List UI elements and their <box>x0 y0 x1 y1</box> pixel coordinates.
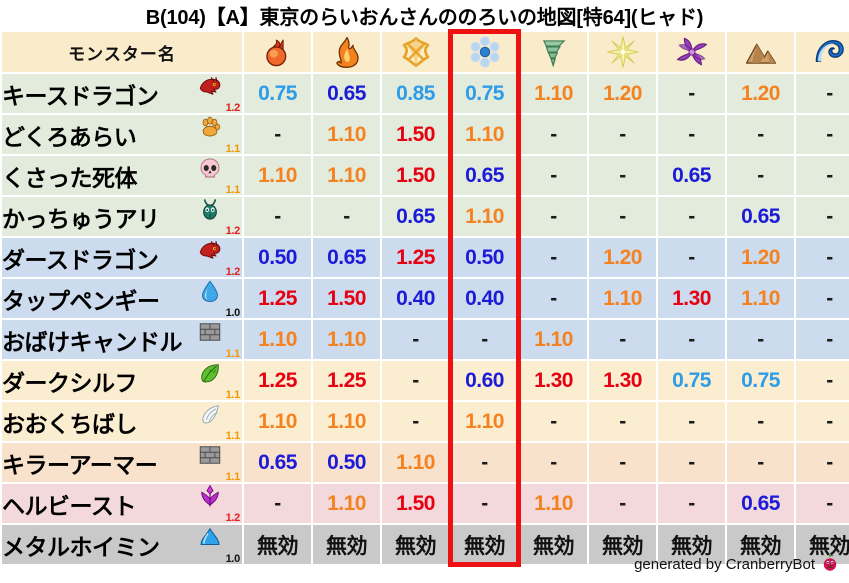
wave-icon <box>796 35 849 69</box>
resistance-cell: 0.65 <box>313 74 380 113</box>
resistance-cell: 1.25 <box>244 361 311 400</box>
darkspiral-icon <box>658 35 725 69</box>
resistance-cell: 1.10 <box>244 402 311 441</box>
monster-name-cell[interactable]: くさった死体1.1 <box>2 156 242 195</box>
monster-name-label: どくろあらい <box>2 118 136 152</box>
table-row: タップペンギー1.01.251.500.400.40-1.101.301.10- <box>2 279 849 318</box>
resistance-cell: 0.40 <box>451 279 518 318</box>
resistance-cell: 0.75 <box>727 361 794 400</box>
trident-icon <box>198 484 222 514</box>
monster-name-cell[interactable]: ダースドラゴン1.2 <box>2 238 242 277</box>
resistance-matrix-wrapper: モンスター名キースドラゴン1.20.750.650.850.751.101.20… <box>0 30 849 566</box>
resistance-cell: - <box>589 197 656 236</box>
resistance-cell: 0.65 <box>727 197 794 236</box>
resistance-cell: - <box>658 238 725 277</box>
monster-name-cell[interactable]: メタルホイミン1.0 <box>2 525 242 564</box>
monster-multiplier: 1.0 <box>226 553 240 565</box>
resistance-cell: - <box>796 74 849 113</box>
monster-name-cell[interactable]: タップペンギー1.0 <box>2 279 242 318</box>
resistance-cell: 0.40 <box>382 279 449 318</box>
resistance-cell: 0.75 <box>658 361 725 400</box>
table-row: どくろあらい1.1-1.101.501.10----- <box>2 115 849 154</box>
dragon-head-icon <box>198 238 222 268</box>
monster-name-cell[interactable]: ヘルビースト1.2 <box>2 484 242 523</box>
monster-badge: 1.2 <box>196 239 240 276</box>
resistance-cell: 1.10 <box>520 74 587 113</box>
resistance-cell: 無効 <box>244 525 311 564</box>
resistance-cell: 無効 <box>313 525 380 564</box>
resistance-cell: 1.50 <box>382 484 449 523</box>
monster-badge: 1.2 <box>196 75 240 112</box>
resistance-cell: 0.65 <box>658 156 725 195</box>
resistance-cell: - <box>727 115 794 154</box>
cranberry-icon <box>821 554 839 575</box>
monster-name-label: ダークシルフ <box>2 364 137 398</box>
resistance-cell: 1.20 <box>727 74 794 113</box>
resistance-cell: 1.20 <box>727 238 794 277</box>
monster-name-label: キラーアーマー <box>2 446 157 480</box>
resistance-cell: - <box>796 238 849 277</box>
header-element-bagi[interactable] <box>520 32 587 72</box>
monster-multiplier: 1.2 <box>226 225 240 237</box>
monster-multiplier: 1.1 <box>226 348 240 360</box>
resistance-cell: 1.10 <box>313 484 380 523</box>
table-row: かっちゅうアリ1.2--0.651.10---0.65- <box>2 197 849 236</box>
resistance-cell: 1.10 <box>244 156 311 195</box>
resistance-cell: 1.30 <box>658 279 725 318</box>
resistance-cell: - <box>658 197 725 236</box>
dragon-head-icon <box>198 74 222 104</box>
wing-icon <box>198 402 222 432</box>
resistance-cell: 1.20 <box>589 74 656 113</box>
resistance-cell: - <box>658 320 725 359</box>
tornado-icon <box>520 35 587 69</box>
resistance-cell: 0.65 <box>727 484 794 523</box>
resistance-cell: - <box>658 74 725 113</box>
monster-name-cell[interactable]: ダークシルフ1.1 <box>2 361 242 400</box>
footer-text: generated by CranberryBot <box>634 556 815 573</box>
resistance-cell: 1.30 <box>589 361 656 400</box>
resistance-cell: 1.10 <box>589 279 656 318</box>
page-title: B(104)【A】東京のらいおんさんののろいの地図[特64](ヒャド) <box>0 0 849 30</box>
resistance-cell: 無効 <box>382 525 449 564</box>
resistance-cell: - <box>451 484 518 523</box>
resistance-cell: - <box>520 238 587 277</box>
resistance-cell: - <box>658 484 725 523</box>
resistance-cell: - <box>796 156 849 195</box>
monster-multiplier: 1.1 <box>226 184 240 196</box>
leaf-icon <box>198 361 222 391</box>
resistance-cell: 0.65 <box>313 238 380 277</box>
resistance-cell: 1.10 <box>520 320 587 359</box>
resistance-cell: - <box>589 156 656 195</box>
waterdrop-icon <box>198 279 222 309</box>
resistance-cell: 1.10 <box>382 443 449 482</box>
resistance-cell: 無効 <box>520 525 587 564</box>
resistance-cell: - <box>796 402 849 441</box>
table-row: くさった死体1.11.101.101.500.65--0.65-- <box>2 156 849 195</box>
monster-badge: 1.1 <box>196 403 240 440</box>
monster-name-label: くさった死体 <box>2 159 137 193</box>
explosion-icon <box>382 35 449 69</box>
monster-badge: 1.0 <box>196 280 240 317</box>
resistance-cell: - <box>520 279 587 318</box>
resistance-cell: 1.25 <box>382 238 449 277</box>
table-row: ヘルビースト1.2-1.101.50-1.10--0.65- <box>2 484 849 523</box>
resistance-cell: - <box>796 320 849 359</box>
monster-name-cell[interactable]: キラーアーマー1.1 <box>2 443 242 482</box>
resistance-cell: - <box>520 115 587 154</box>
resistance-cell: - <box>796 279 849 318</box>
skull-icon <box>198 156 222 186</box>
header-monster-name-label: モンスター名 <box>2 32 242 72</box>
resistance-cell: 1.10 <box>313 115 380 154</box>
monster-multiplier: 1.2 <box>226 102 240 114</box>
header-element-hyado[interactable] <box>451 32 518 72</box>
resistance-cell: - <box>796 197 849 236</box>
matrix-header-row: モンスター名 <box>2 32 849 72</box>
resistance-cell: 1.10 <box>451 197 518 236</box>
monster-badge: 1.1 <box>196 157 240 194</box>
monster-multiplier: 1.1 <box>226 430 240 442</box>
slime-icon <box>198 525 222 555</box>
bug-icon <box>198 197 222 227</box>
monster-name-label: メタルホイミン <box>2 528 160 562</box>
resistance-cell: - <box>313 197 380 236</box>
table-row: おばけキャンドル1.11.101.10--1.10---- <box>2 320 849 359</box>
monster-name-cell[interactable]: キースドラゴン1.2 <box>2 74 242 113</box>
resistance-cell: - <box>589 402 656 441</box>
resistance-cell: - <box>796 484 849 523</box>
monster-name-label: ヘルビースト <box>2 487 136 521</box>
resistance-cell: 1.25 <box>313 361 380 400</box>
table-row: ダークシルフ1.11.251.25-0.601.301.300.750.75- <box>2 361 849 400</box>
resistance-cell: 1.10 <box>451 115 518 154</box>
resistance-cell: 0.75 <box>451 74 518 113</box>
monster-multiplier: 1.2 <box>226 266 240 278</box>
resistance-cell: 1.10 <box>313 156 380 195</box>
resistance-cell: 1.50 <box>382 115 449 154</box>
monster-name-cell[interactable]: おおくちばし1.1 <box>2 402 242 441</box>
resistance-cell: - <box>796 115 849 154</box>
header-element-gira[interactable] <box>313 32 380 72</box>
monster-badge: 1.0 <box>196 526 240 563</box>
resistance-cell: - <box>451 443 518 482</box>
table-row: ダースドラゴン1.20.500.651.250.50-1.20-1.20- <box>2 238 849 277</box>
resistance-cell: 1.20 <box>589 238 656 277</box>
header-element-jishin[interactable] <box>727 32 794 72</box>
resistance-cell: 無効 <box>451 525 518 564</box>
monster-multiplier: 1.2 <box>226 512 240 524</box>
resistance-cell: 1.25 <box>244 279 311 318</box>
monster-name-cell[interactable]: おばけキャンドル1.1 <box>2 320 242 359</box>
resistance-cell: - <box>727 443 794 482</box>
resistance-cell: - <box>382 320 449 359</box>
resistance-cell: 0.60 <box>451 361 518 400</box>
resistance-cell: 0.85 <box>382 74 449 113</box>
resistance-cell: - <box>451 320 518 359</box>
resistance-cell: - <box>382 361 449 400</box>
resistance-cell: 1.10 <box>451 402 518 441</box>
monster-name-label: タップペンギー <box>2 282 160 316</box>
lightburst-icon <box>589 35 656 69</box>
resistance-cell: - <box>658 443 725 482</box>
resistance-cell: 1.10 <box>313 320 380 359</box>
resistance-cell: 1.10 <box>727 279 794 318</box>
resistance-matrix-table: モンスター名キースドラゴン1.20.750.650.850.751.101.20… <box>0 30 849 566</box>
monster-name-cell[interactable]: どくろあらい1.1 <box>2 115 242 154</box>
monster-multiplier: 1.1 <box>226 471 240 483</box>
monster-badge: 1.1 <box>196 444 240 481</box>
header-element-mera[interactable] <box>244 32 311 72</box>
resistance-cell: - <box>796 361 849 400</box>
resistance-cell: 1.50 <box>382 156 449 195</box>
resistance-cell: 0.50 <box>451 238 518 277</box>
resistance-cell: - <box>520 443 587 482</box>
table-row: キラーアーマー1.10.650.501.10------ <box>2 443 849 482</box>
resistance-cell: - <box>589 443 656 482</box>
monster-multiplier: 1.1 <box>226 389 240 401</box>
table-row: キースドラゴン1.20.750.650.850.751.101.20-1.20- <box>2 74 849 113</box>
monster-badge: 1.2 <box>196 198 240 235</box>
resistance-cell: - <box>382 402 449 441</box>
flame-icon <box>313 35 380 69</box>
monster-badge: 1.2 <box>196 485 240 522</box>
monster-badge: 1.1 <box>196 362 240 399</box>
resistance-cell: - <box>520 156 587 195</box>
resistance-cell: 0.65 <box>382 197 449 236</box>
header-element-dorma[interactable] <box>658 32 725 72</box>
monster-name-label: おおくちばし <box>2 405 137 439</box>
monster-name-label: キースドラゴン <box>2 77 158 111</box>
monster-name-cell[interactable]: かっちゅうアリ1.2 <box>2 197 242 236</box>
brick-icon <box>198 320 222 350</box>
resistance-cell: 1.10 <box>520 484 587 523</box>
resistance-cell: 1.30 <box>520 361 587 400</box>
resistance-cell: - <box>589 320 656 359</box>
mountain-icon <box>727 35 794 69</box>
paw-icon <box>198 115 222 145</box>
resistance-cell: 0.65 <box>244 443 311 482</box>
resistance-cell: - <box>658 402 725 441</box>
header-element-hyado_y[interactable] <box>382 32 449 72</box>
snowflake-icon <box>451 35 518 69</box>
monster-multiplier: 1.0 <box>226 307 240 319</box>
resistance-cell: 1.10 <box>244 320 311 359</box>
header-element-kaiyo[interactable] <box>796 32 849 72</box>
monster-name-label: おばけキャンドル <box>2 323 182 357</box>
resistance-cell: - <box>727 156 794 195</box>
brick-icon <box>198 443 222 473</box>
monster-multiplier: 1.1 <box>226 143 240 155</box>
resistance-cell: - <box>244 197 311 236</box>
resistance-cell: - <box>244 484 311 523</box>
resistance-cell: - <box>244 115 311 154</box>
resistance-cell: 1.50 <box>313 279 380 318</box>
footer-credit: generated by CranberryBot <box>634 554 839 575</box>
table-row: おおくちばし1.11.101.10-1.10----- <box>2 402 849 441</box>
resistance-cell: - <box>727 320 794 359</box>
resistance-cell: - <box>658 115 725 154</box>
fireball-icon <box>244 35 311 69</box>
resistance-cell: - <box>727 402 794 441</box>
resistance-cell: - <box>589 115 656 154</box>
resistance-cell: 0.50 <box>313 443 380 482</box>
resistance-cell: 1.10 <box>313 402 380 441</box>
resistance-cell: - <box>589 484 656 523</box>
resistance-cell: 0.50 <box>244 238 311 277</box>
monster-badge: 1.1 <box>196 321 240 358</box>
resistance-cell: - <box>520 402 587 441</box>
monster-badge: 1.1 <box>196 116 240 153</box>
header-element-dein[interactable] <box>589 32 656 72</box>
monster-name-label: ダースドラゴン <box>2 241 158 275</box>
resistance-cell: - <box>796 443 849 482</box>
resistance-cell: 0.75 <box>244 74 311 113</box>
resistance-cell: - <box>520 197 587 236</box>
monster-name-label: かっちゅうアリ <box>2 200 160 234</box>
resistance-cell: 0.65 <box>451 156 518 195</box>
